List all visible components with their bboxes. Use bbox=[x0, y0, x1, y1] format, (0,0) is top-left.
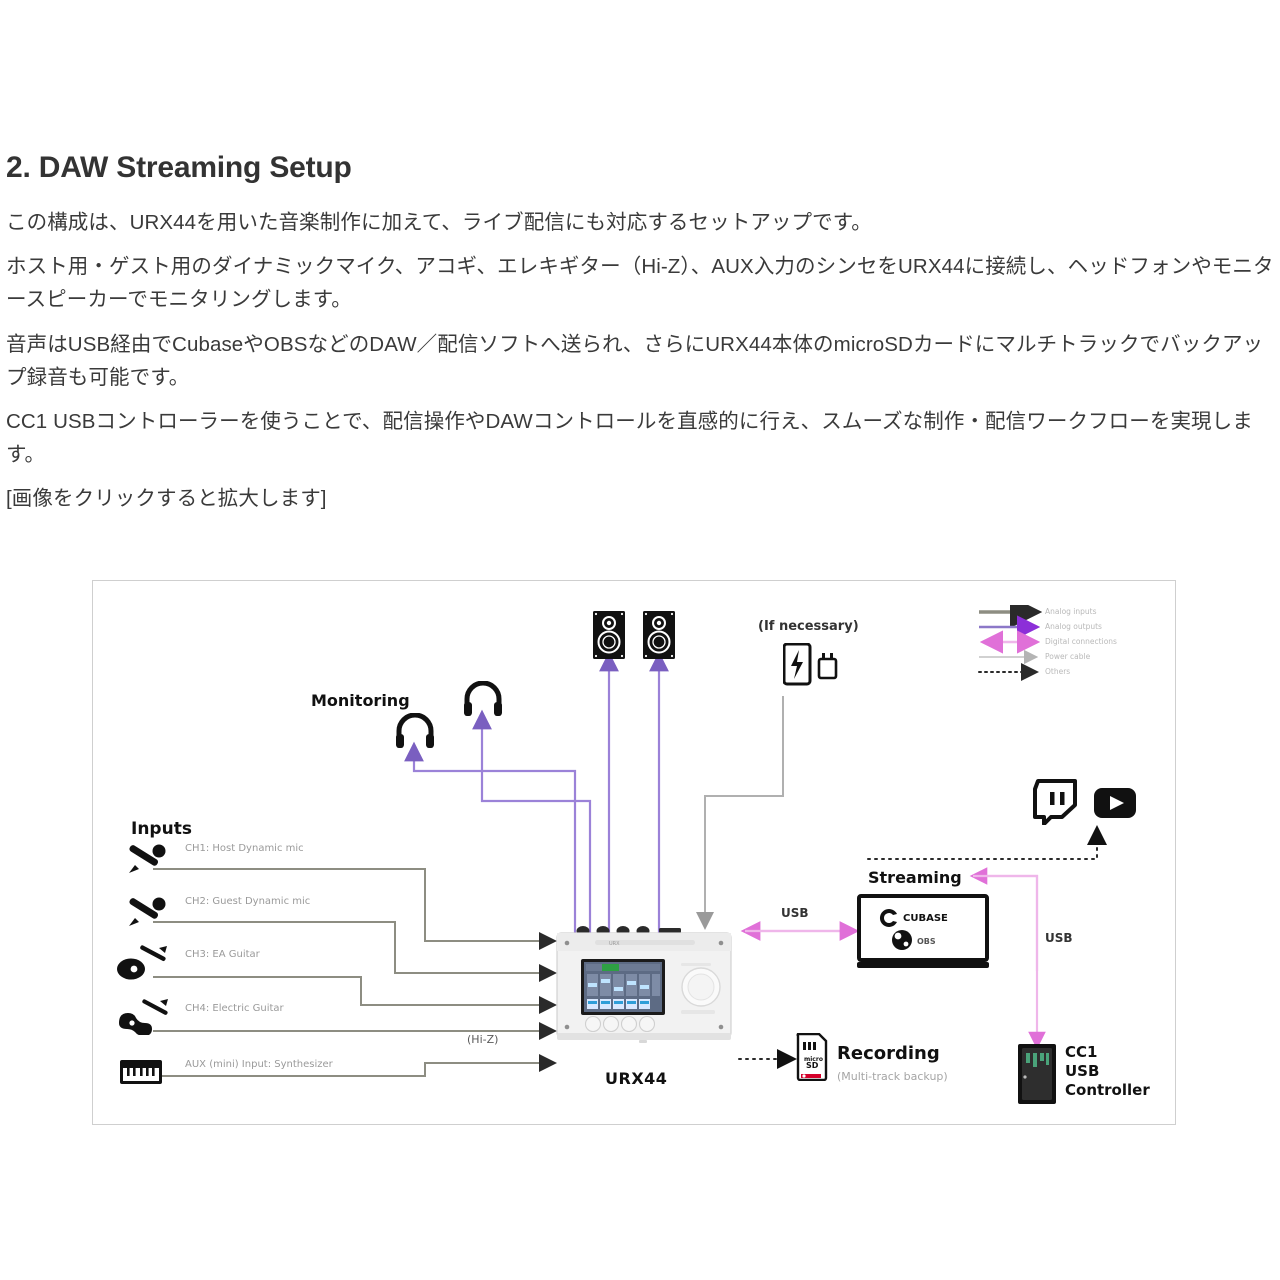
page-root: 2. DAW Streaming Setup この構成は、URX44を用いた音楽… bbox=[0, 0, 1280, 1280]
twitch-platform[interactable] bbox=[1033, 779, 1077, 825]
power-necessary-label: (If necessary) bbox=[758, 619, 859, 634]
monitor-speaker-right bbox=[643, 611, 675, 659]
input-label-ch2: CH2: Guest Dynamic mic bbox=[185, 896, 310, 907]
hiz-label: (Hi-Z) bbox=[467, 1033, 498, 1046]
cc1-line-2: USB bbox=[1065, 1062, 1150, 1081]
recording-label: Recording bbox=[837, 1043, 940, 1064]
input-row-aux bbox=[119, 1059, 163, 1085]
twitch-icon bbox=[1033, 779, 1077, 825]
cc1-line-3: Controller bbox=[1065, 1081, 1150, 1100]
streaming-laptop[interactable]: CUBASE OBS bbox=[857, 894, 989, 972]
youtube-platform[interactable] bbox=[1093, 787, 1137, 819]
svg-text:SD: SD bbox=[806, 1061, 819, 1070]
monitoring-label: Monitoring bbox=[311, 691, 410, 710]
microphone-icon bbox=[123, 896, 171, 930]
paragraph-inputs: ホスト用・ゲスト用のダイナミックマイク、アコギ、エレキギター（Hi-Z）、AUX… bbox=[6, 250, 1276, 316]
microsd-card-icon: micro SD bbox=[795, 1033, 829, 1081]
input-row-ch3 bbox=[115, 945, 171, 981]
monitor-speaker-left bbox=[593, 611, 625, 659]
keyboard-synth-icon bbox=[119, 1059, 163, 1085]
svg-text:OBS: OBS bbox=[917, 937, 936, 946]
legend-label-others: Others bbox=[1045, 667, 1070, 676]
electric-guitar-icon bbox=[115, 999, 171, 1035]
acoustic-guitar-icon bbox=[115, 945, 171, 981]
speaker-icon bbox=[593, 611, 625, 659]
urx44-label: URX44 bbox=[605, 1069, 667, 1088]
power-adapter-group bbox=[783, 643, 841, 687]
laptop-icon: CUBASE OBS bbox=[857, 894, 989, 972]
legend-label-analog-inputs: Analog inputs bbox=[1045, 607, 1097, 616]
cc1-controller-label: CC1 USB Controller bbox=[1065, 1043, 1150, 1099]
cc1-usb-controller[interactable] bbox=[1017, 1043, 1057, 1105]
input-row-ch2 bbox=[123, 896, 171, 930]
cc1-controller-icon bbox=[1017, 1043, 1057, 1105]
setup-diagram[interactable]: Inputs CH1: Host Dynamic mic CH2: Guest … bbox=[92, 580, 1176, 1125]
urx44-device-graphic: URX bbox=[549, 921, 739, 1053]
legend-label-power-cable: Power cable bbox=[1045, 652, 1090, 661]
power-adapter-icon bbox=[783, 643, 841, 687]
image-click-hint[interactable]: [画像をクリックすると拡大します] bbox=[6, 482, 1276, 515]
recording-sublabel: (Multi-track backup) bbox=[837, 1070, 948, 1083]
headphone-icon bbox=[395, 713, 435, 749]
youtube-icon bbox=[1093, 787, 1137, 819]
microsd-card: micro SD bbox=[795, 1033, 829, 1081]
inputs-heading: Inputs bbox=[131, 819, 192, 839]
headphone-icon-1 bbox=[395, 713, 435, 749]
input-label-aux: AUX (mini) Input: Synthesizer bbox=[185, 1059, 333, 1070]
page-title: 2. DAW Streaming Setup bbox=[6, 150, 1276, 186]
paragraph-cc1: CC1 USBコントローラーを使うことで、配信操作やDAWコントロールを直感的に… bbox=[6, 405, 1276, 471]
input-row-ch4 bbox=[115, 999, 171, 1035]
input-label-ch1: CH1: Host Dynamic mic bbox=[185, 843, 304, 854]
microphone-icon bbox=[123, 843, 171, 877]
urx44-device[interactable]: URX bbox=[549, 921, 739, 1053]
input-label-ch4: CH4: Electric Guitar bbox=[185, 1003, 284, 1014]
input-label-ch3: CH3: EA Guitar bbox=[185, 949, 260, 960]
usb-label-interface-to-laptop: USB bbox=[781, 906, 809, 920]
diagram-legend: Analog inputs Analog outputs Digital con… bbox=[977, 605, 1167, 685]
speaker-icon bbox=[643, 611, 675, 659]
legend-label-analog-outputs: Analog outputs bbox=[1045, 622, 1102, 631]
paragraph-usb: 音声はUSB経由でCubaseやOBSなどのDAW／配信ソフトへ送られ、さらにU… bbox=[6, 328, 1276, 394]
cc1-line-1: CC1 bbox=[1065, 1043, 1150, 1062]
headphone-icon bbox=[463, 681, 503, 717]
paragraph-intro: この構成は、URX44を用いた音楽制作に加えて、ライブ配信にも対応するセットアッ… bbox=[6, 206, 1276, 239]
headphone-icon-2 bbox=[463, 681, 503, 717]
usb-label-laptop-to-controller: USB bbox=[1045, 931, 1073, 945]
input-row-ch1 bbox=[123, 843, 171, 877]
svg-text:URX: URX bbox=[609, 941, 620, 947]
streaming-heading: Streaming bbox=[868, 868, 962, 887]
article-body: 2. DAW Streaming Setup この構成は、URX44を用いた音楽… bbox=[6, 150, 1276, 527]
svg-text:CUBASE: CUBASE bbox=[903, 913, 948, 924]
legend-label-digital-connections: Digital connections bbox=[1045, 637, 1117, 646]
